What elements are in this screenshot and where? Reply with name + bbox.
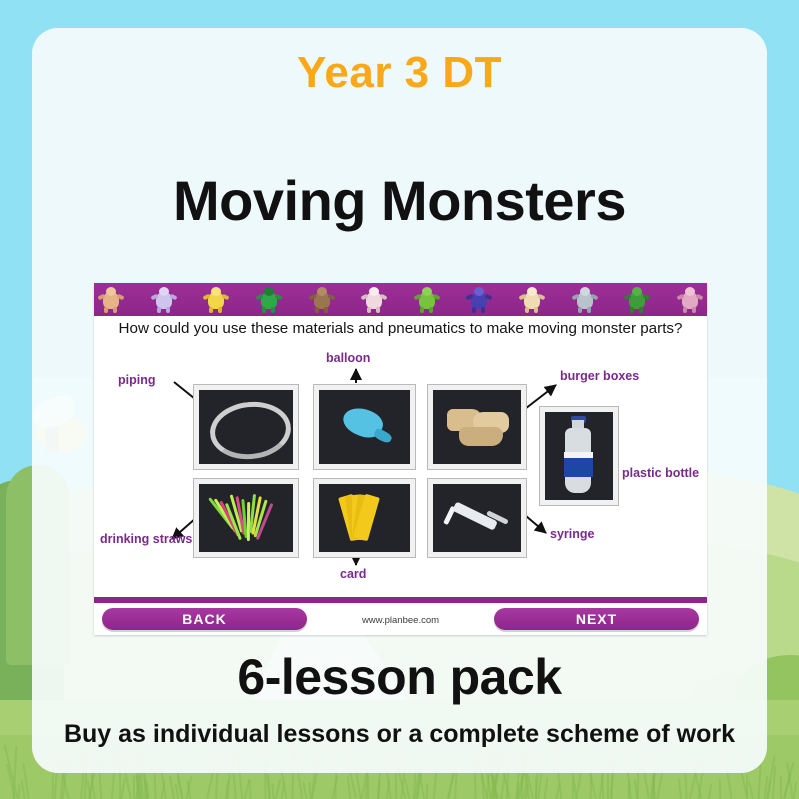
- monster-icon: [414, 286, 440, 314]
- monster-icon: [361, 286, 387, 314]
- next-button[interactable]: NEXT: [494, 608, 699, 630]
- monster-icon: [151, 286, 177, 314]
- drinking-straws-photo: [194, 479, 298, 557]
- monster-icon: [519, 286, 545, 314]
- slide-banner: [94, 283, 707, 316]
- lesson-pack-label: 6-lesson pack: [32, 648, 767, 706]
- material-label-card: card: [340, 567, 366, 581]
- monster-icon: [466, 286, 492, 314]
- plastic-bottle-photo: [540, 407, 618, 505]
- slide-question: How could you use these materials and pn…: [112, 319, 689, 338]
- monster-icon: [624, 286, 650, 314]
- monster-icon: [98, 286, 124, 314]
- monster-icon: [256, 286, 282, 314]
- syringe-photo: [428, 479, 526, 557]
- material-label-syringe: syringe: [550, 527, 594, 541]
- monster-icon: [203, 286, 229, 314]
- content-card: Year 3 DT Moving Monsters How could you …: [32, 28, 767, 773]
- slide-body: piping balloon burger boxes plastic bott…: [94, 367, 707, 597]
- monster-icon: [572, 286, 598, 314]
- material-label-piping: piping: [118, 373, 156, 387]
- piping-photo: [194, 385, 298, 469]
- page-root: Year 3 DT Moving Monsters How could you …: [0, 0, 799, 799]
- material-label-drinking-straws: drinking straws: [100, 532, 192, 546]
- material-label-balloon: balloon: [326, 351, 370, 365]
- card-photo: [314, 479, 415, 557]
- page-title: Moving Monsters: [32, 168, 767, 233]
- material-label-plastic-bottle: plastic bottle: [622, 466, 699, 480]
- footer-divider: [94, 597, 707, 603]
- balloon-photo: [314, 385, 415, 469]
- buy-description: Buy as individual lessons or a complete …: [32, 720, 767, 749]
- monster-icon: [309, 286, 335, 314]
- monster-icon: [677, 286, 703, 314]
- page-subject-title: Year 3 DT: [32, 48, 767, 98]
- material-label-burger-boxes: burger boxes: [560, 369, 639, 383]
- burger-boxes-photo: [428, 385, 526, 469]
- slide-preview[interactable]: How could you use these materials and pn…: [94, 283, 707, 635]
- slide-footer: BACK www.planbee.com NEXT: [94, 597, 707, 635]
